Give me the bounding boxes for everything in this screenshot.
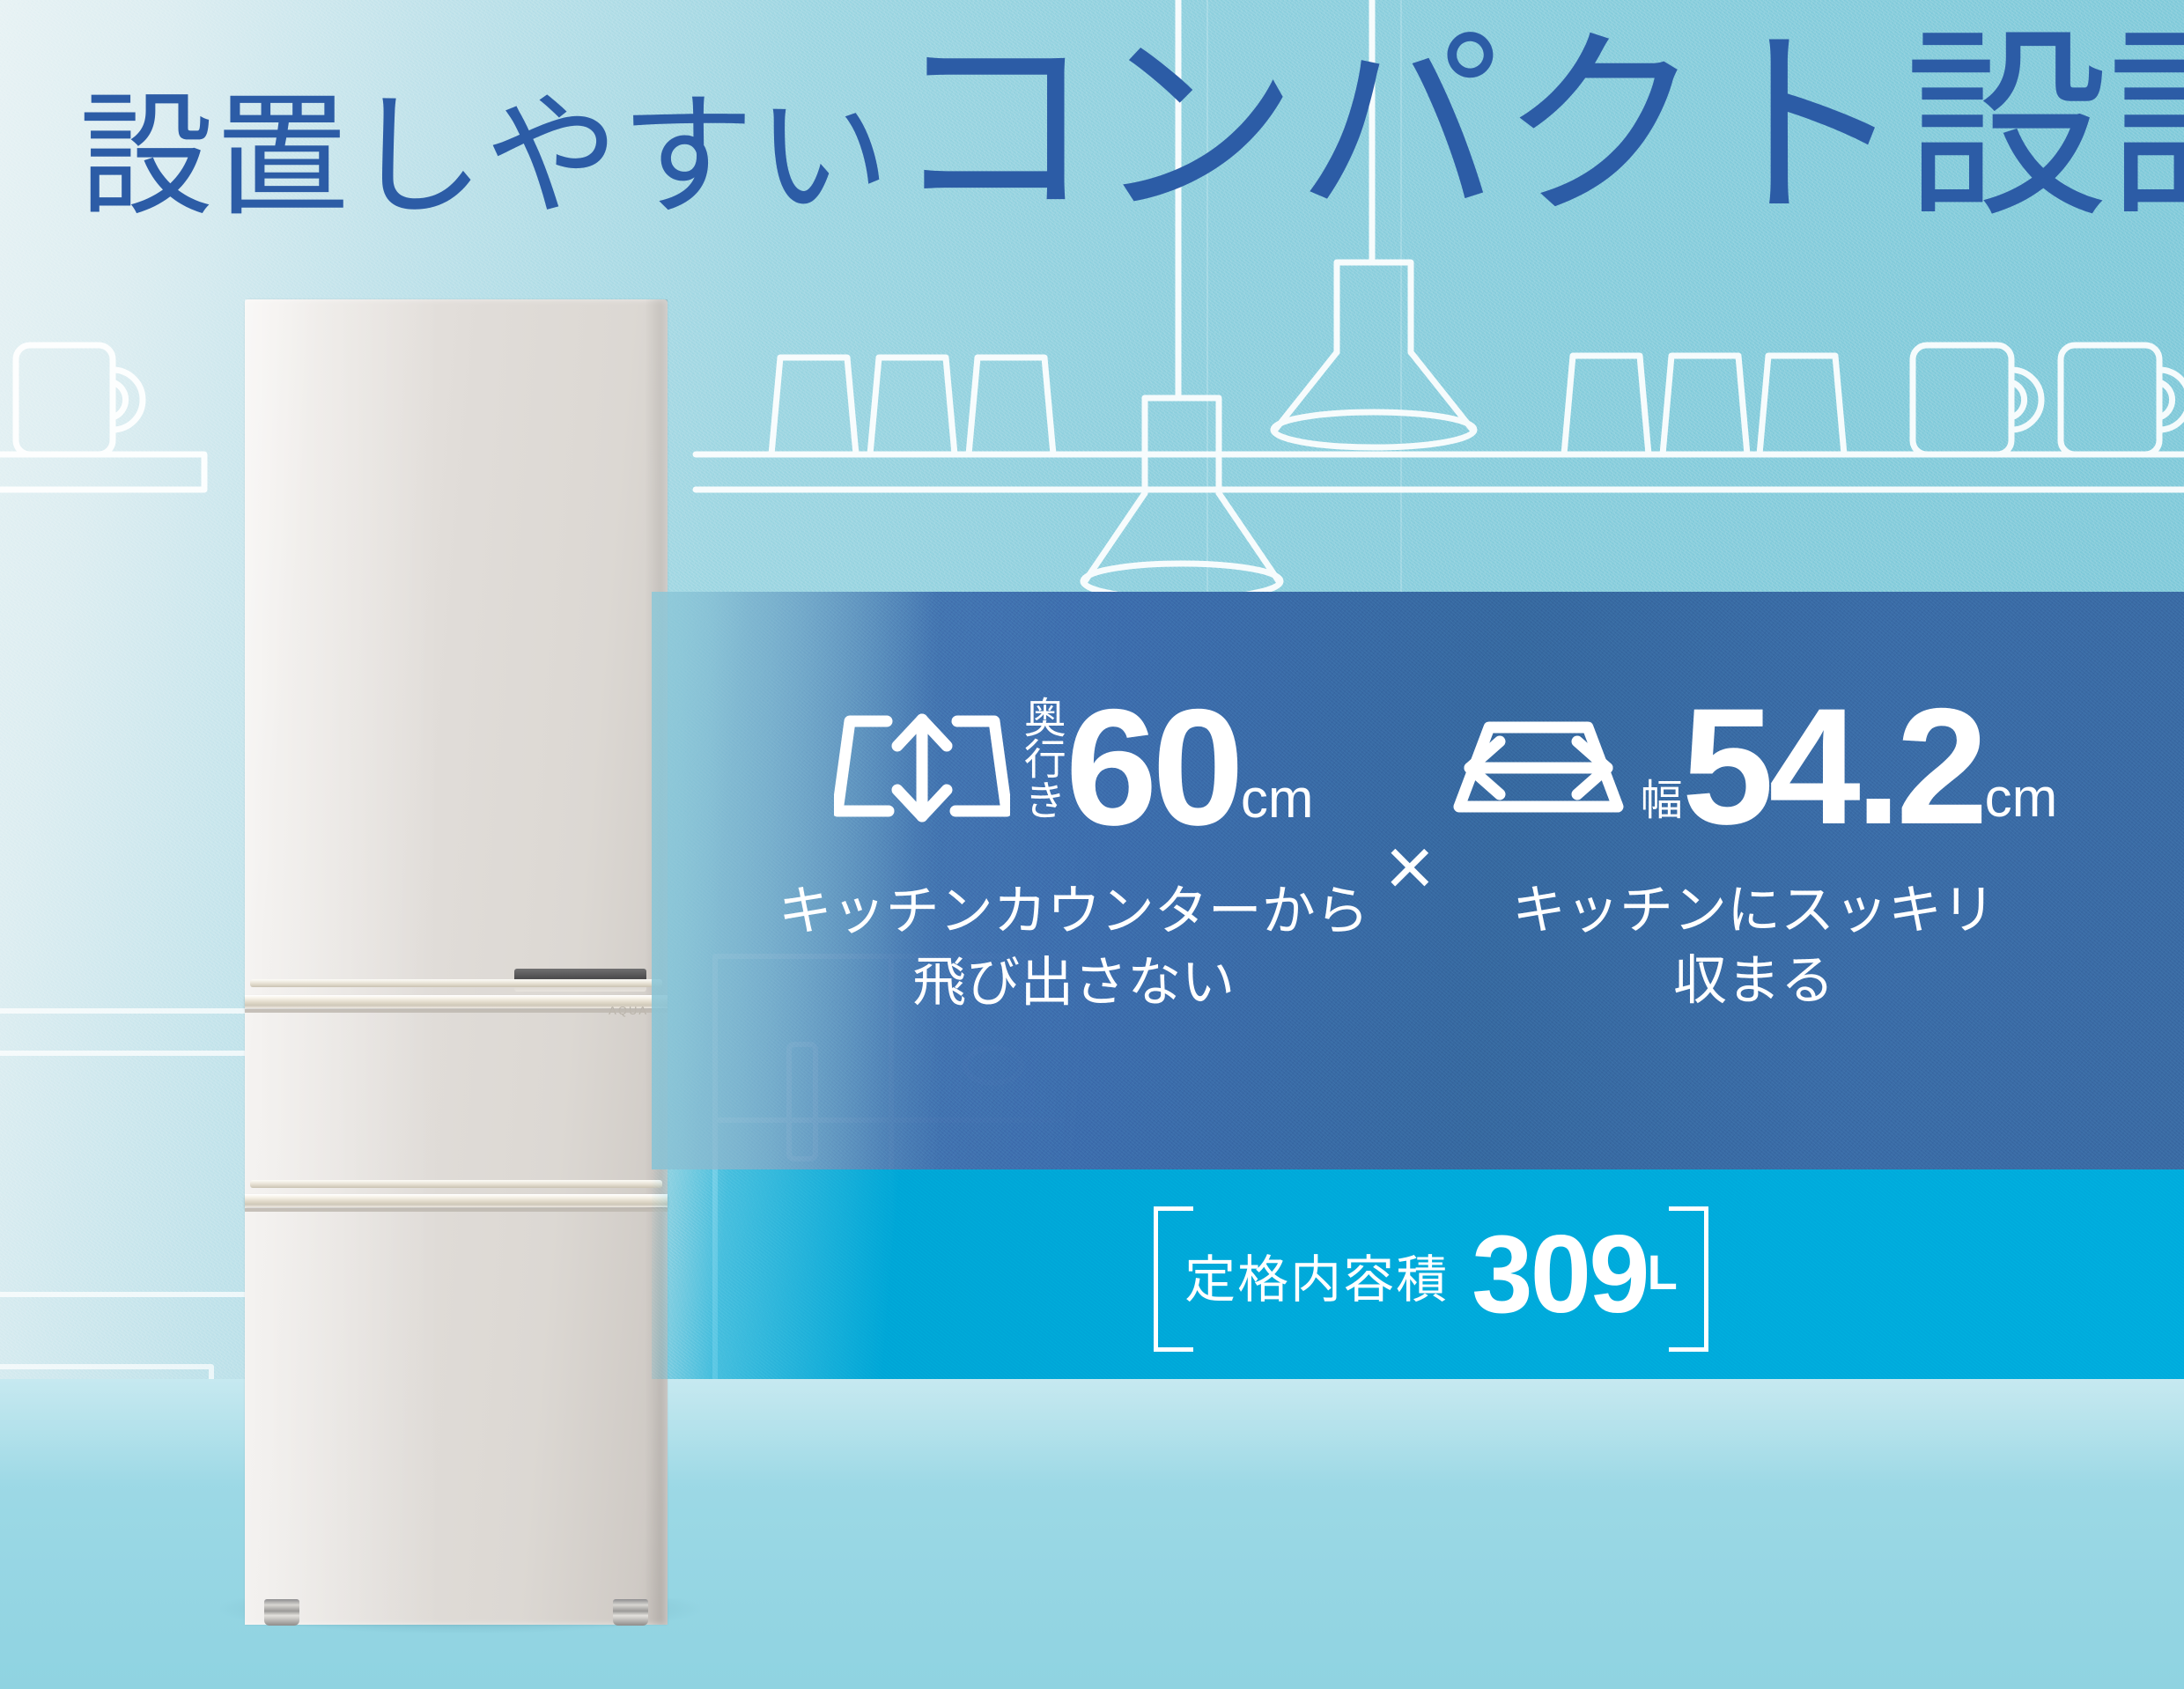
spec-depth-value: 60: [1066, 697, 1239, 839]
refrigerator-drawer1-gap: [245, 1208, 668, 1212]
refrigerator-leveling-foot-right: [613, 1599, 648, 1626]
spec-width-caption-line2: 収まる: [1512, 946, 1996, 1017]
spec-depth: 奥行き 60 cm キッチンカウンターから 飛び出さない: [778, 696, 1369, 1018]
spec-width: 幅 54.2 cm キッチンにスッキリ 収まる: [1450, 696, 2058, 1017]
capacity-badge: 定格内容積 309 L: [1154, 1206, 1708, 1343]
spec-width-caption: キッチンにスッキリ 収まる: [1512, 875, 1996, 1017]
spec-list: 奥行き 60 cm キッチンカウンターから 飛び出さない ×: [652, 696, 2184, 1110]
spec-depth-caption: キッチンカウンターから 飛び出さない: [778, 876, 1369, 1018]
refrigerator-product-photo: AQUA: [245, 299, 668, 1625]
spec-depth-label: 奥行き: [1019, 696, 1062, 820]
compact-design-banner: AQUA 設置しやすい コンパクト設計: [0, 0, 2184, 1689]
width-arrow-icon: [1450, 701, 1627, 833]
spec-width-label: 幅: [1635, 778, 1679, 819]
spec-width-value: 54.2: [1682, 696, 1983, 838]
refrigerator-door-gap: [245, 1009, 668, 1013]
spec-depth-unit: cm: [1241, 772, 1314, 839]
spec-width-caption-line1: キッチンにスッキリ: [1512, 875, 1996, 947]
bracket-left-icon: [1154, 1206, 1193, 1352]
refrigerator-sheen: [245, 299, 439, 1625]
refrigerator-drawer1-handle: [250, 1180, 662, 1188]
page-title-main: コンパクト設計: [891, 25, 2184, 229]
spec-depth-caption-line1: キッチンカウンターから: [778, 876, 1369, 948]
spec-depth-row: 奥行き 60 cm: [834, 696, 1314, 839]
page-title: 設置しやすい コンパクト設計: [79, 25, 2131, 229]
capacity-label: 定格内容積: [1184, 1238, 1449, 1312]
spec-width-row: 幅 54.2 cm: [1450, 696, 2058, 838]
refrigerator-door-seam: [245, 995, 668, 1008]
bracket-right-icon: [1669, 1206, 1708, 1352]
multiply-symbol: ×: [1385, 819, 1435, 986]
page-title-prefix: 設置しやすい: [79, 90, 891, 229]
spec-depth-caption-line2: 飛び出さない: [778, 948, 1369, 1019]
refrigerator-drawer1-seam: [245, 1194, 668, 1207]
depth-arrow-icon: [834, 702, 1010, 834]
capacity-value: 309: [1472, 1220, 1648, 1330]
spec-width-unit: cm: [1985, 771, 2058, 838]
refrigerator-leveling-foot-left: [264, 1599, 299, 1626]
refrigerator-door-handle: [250, 979, 662, 987]
